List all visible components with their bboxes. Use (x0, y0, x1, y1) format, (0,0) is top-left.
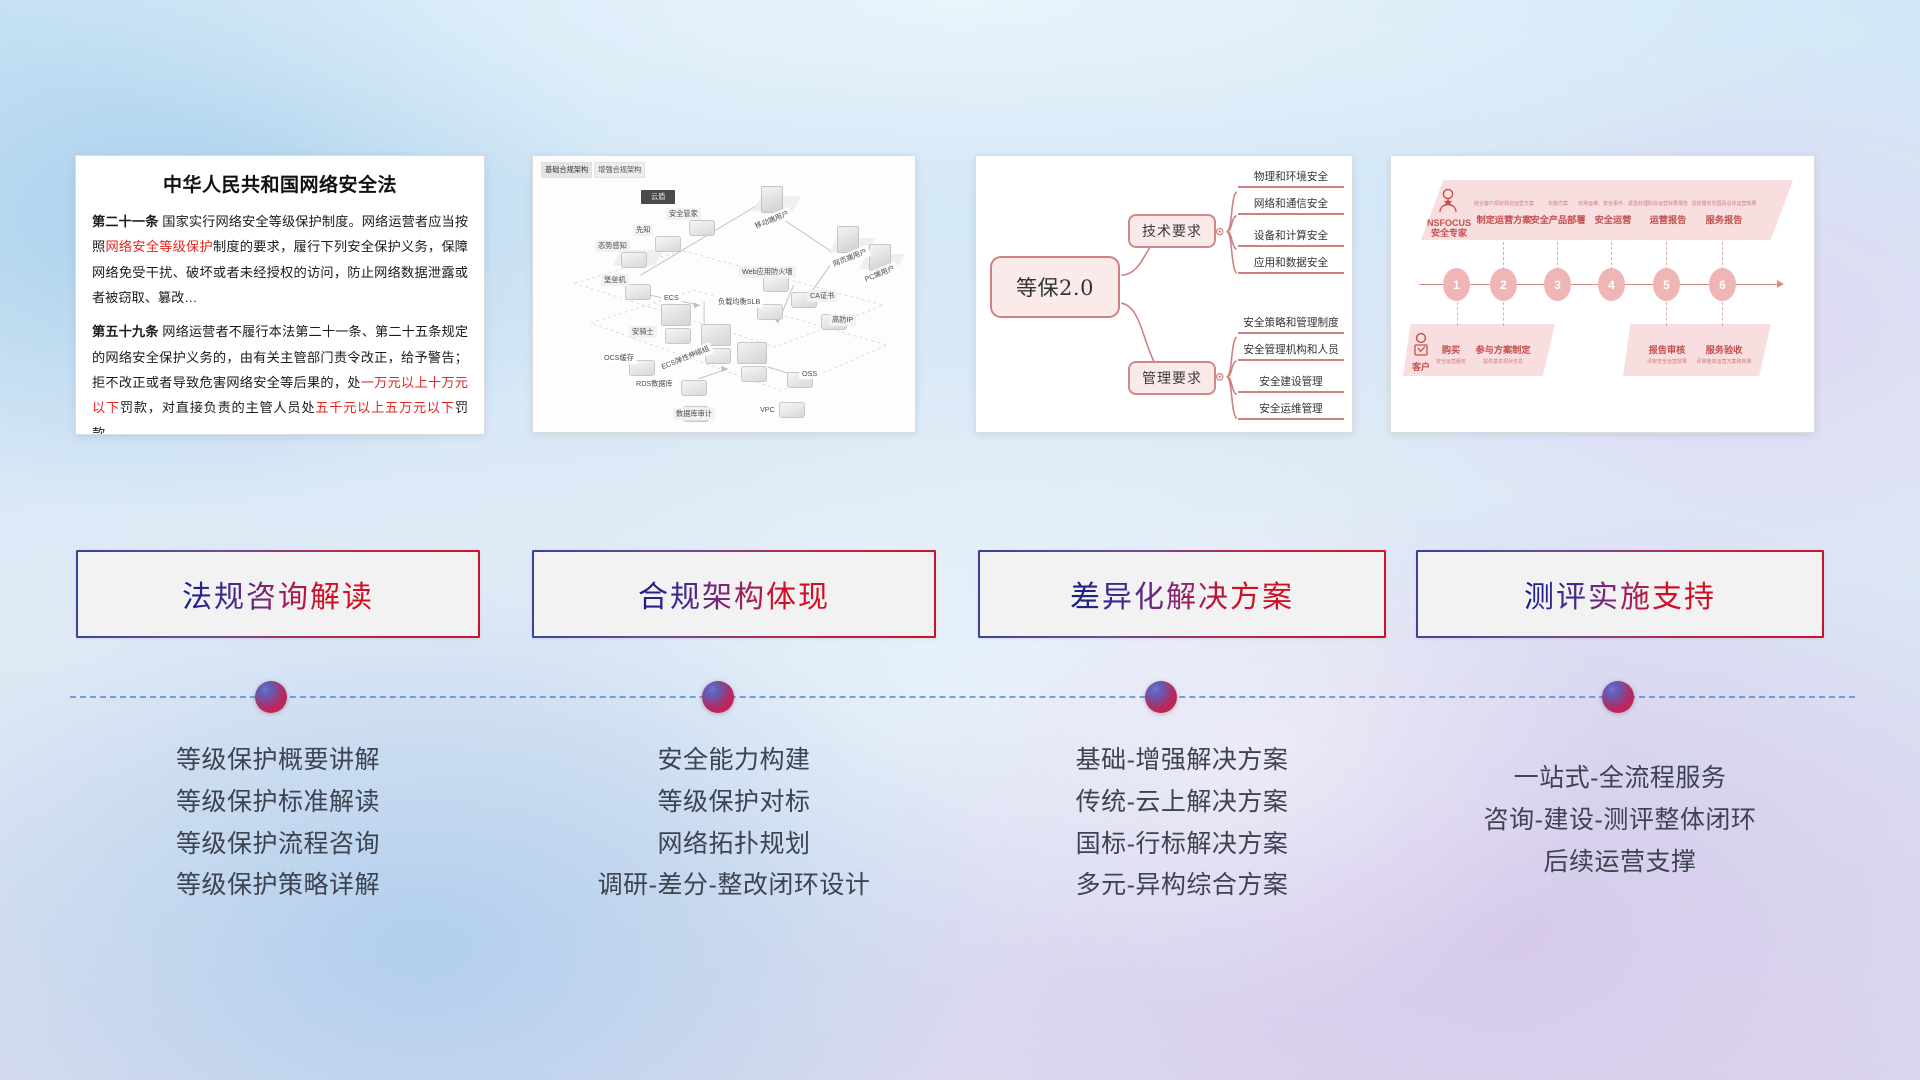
banner-label: 差异化解决方案 (1070, 572, 1294, 616)
list-item: 等级保护概要讲解 (76, 740, 480, 782)
timeline-marker-3 (1145, 681, 1177, 713)
detail-list-regulation: 等级保护概要讲解 等级保护标准解读 等级保护流程咨询 等级保护策略详解 (76, 740, 480, 907)
list-item: 网络拓扑规划 (532, 824, 936, 866)
banner-compliance-architecture[interactable]: 合规架构体现 (532, 550, 936, 638)
banner-assessment-support[interactable]: 测评实施支持 (1416, 550, 1824, 638)
list-item: 国标-行标解决方案 (978, 824, 1386, 866)
list-item: 后续运营支撑 (1416, 842, 1824, 884)
list-item: 咨询-建设-测评整体闭环 (1416, 800, 1824, 842)
list-item: 一站式-全流程服务 (1416, 758, 1824, 800)
list-item: 多元-异构综合方案 (978, 865, 1386, 907)
slide-stage: 中华人民共和国网络安全法 第二十一条 国家实行网络安全等级保护制度。网络运营者应… (0, 0, 1920, 1080)
timeline-marker-2 (702, 681, 734, 713)
list-item: 调研-差分-整改闭环设计 (532, 865, 936, 907)
timeline-marker-4 (1602, 681, 1634, 713)
list-item: 等级保护策略详解 (76, 865, 480, 907)
list-item: 基础-增强解决方案 (978, 740, 1386, 782)
banner-differentiated-solution[interactable]: 差异化解决方案 (978, 550, 1386, 638)
detail-list-architecture: 安全能力构建 等级保护对标 网络拓扑规划 调研-差分-整改闭环设计 (532, 740, 936, 907)
list-item: 安全能力构建 (532, 740, 936, 782)
detail-list-assessment: 一站式-全流程服务 咨询-建设-测评整体闭环 后续运营支撑 (1416, 758, 1824, 883)
list-item: 等级保护标准解读 (76, 782, 480, 824)
timeline-dashed-line (70, 696, 1855, 698)
banner-label: 测评实施支持 (1524, 572, 1716, 616)
detail-list-solution: 基础-增强解决方案 传统-云上解决方案 国标-行标解决方案 多元-异构综合方案 (978, 740, 1386, 907)
timeline-marker-1 (255, 681, 287, 713)
banner-label: 合规架构体现 (638, 572, 830, 616)
list-item: 等级保护对标 (532, 782, 936, 824)
section-banner-row: 法规咨询解读 合规架构体现 差异化解决方案 测评实施支持 (0, 0, 1920, 1080)
list-item: 传统-云上解决方案 (978, 782, 1386, 824)
list-item: 等级保护流程咨询 (76, 824, 480, 866)
banner-label: 法规咨询解读 (182, 572, 374, 616)
banner-regulation-consulting[interactable]: 法规咨询解读 (76, 550, 480, 638)
